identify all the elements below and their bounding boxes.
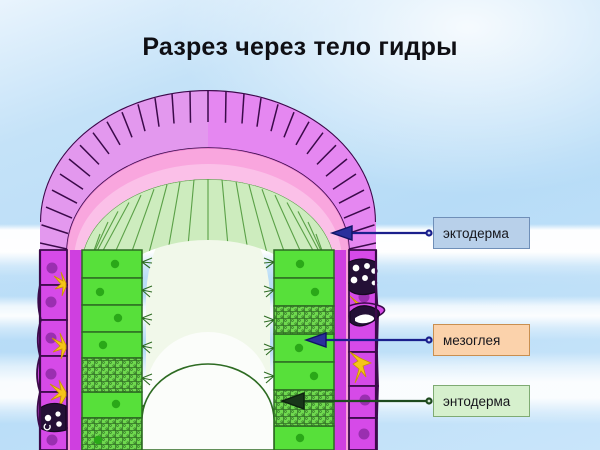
slide-canvas: Разрез через тело гидры (0, 0, 600, 450)
label-endoderm-text: энтодерма (443, 394, 510, 409)
glandular-cell (349, 303, 385, 326)
glandular-cell (82, 358, 142, 392)
ectoderm-column-left (37, 250, 67, 450)
label-mesoglea-text: мезоглея (443, 333, 500, 348)
stinging-cell (40, 403, 66, 431)
glandular-cell (274, 306, 334, 334)
label-ectoderm[interactable]: эктодерма (433, 217, 530, 249)
glandular-cell (82, 418, 142, 450)
label-mesoglea[interactable]: мезоглея (433, 324, 530, 356)
label-ectoderm-text: эктодерма (443, 226, 509, 241)
stinging-cell (349, 259, 377, 295)
ectoderm-column-right (349, 250, 385, 450)
label-endoderm[interactable]: энтодерма (433, 385, 530, 417)
leader-arrow-ectoderm (332, 226, 433, 240)
